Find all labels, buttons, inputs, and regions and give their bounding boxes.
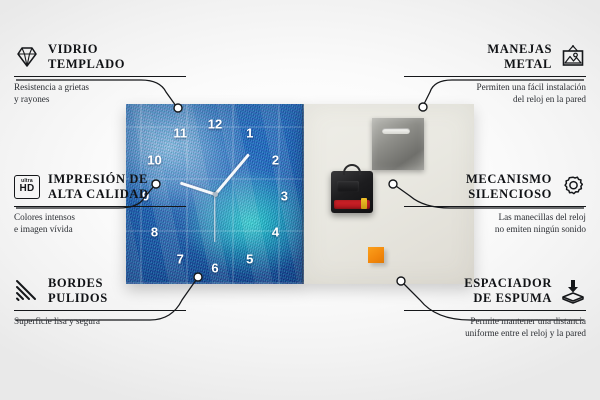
feature-header: ESPACIADOR DE ESPUMA [404, 276, 586, 306]
feature-title: VIDRIO TEMPLADO [48, 42, 125, 72]
feature-bordes-pulidos: BORDES PULIDOS Superficie lisa y segura [14, 276, 186, 327]
hanger-slot [382, 128, 410, 134]
clock-numeral-4: 4 [272, 225, 279, 238]
feature-rule [14, 76, 186, 77]
silent-clock-mechanism [331, 171, 373, 213]
clock-center-pin [213, 192, 218, 197]
clock-numeral-5: 5 [246, 252, 253, 265]
feature-subtitle: Colores intensos e imagen vívida [14, 211, 186, 235]
battery-compartment [334, 200, 370, 209]
feature-rule [14, 206, 186, 207]
clock-numeral-1: 1 [246, 126, 253, 139]
feature-header: VIDRIO TEMPLADO [14, 42, 186, 72]
clock-numeral-11: 11 [173, 126, 187, 139]
feature-title: ESPACIADOR DE ESPUMA [464, 276, 552, 306]
diamond-icon [14, 44, 40, 70]
feature-header: BORDES PULIDOS [14, 276, 186, 306]
feature-subtitle: Permiten una fácil instalación del reloj… [404, 81, 586, 105]
clock-numeral-3: 3 [281, 189, 288, 202]
foam-spacer [368, 247, 384, 263]
feature-subtitle: Permite mantener una distancia uniforme … [404, 315, 586, 339]
clock-numeral-7: 7 [177, 252, 184, 265]
feature-rule [14, 310, 186, 311]
feature-title: MECANISMO SILENCIOSO [466, 172, 552, 202]
feature-espaciador-espuma: ESPACIADOR DE ESPUMA Permite mantener un… [404, 276, 586, 339]
clock-numeral-2: 2 [272, 153, 279, 166]
feature-subtitle: Superficie lisa y segura [14, 315, 186, 327]
feature-rule [404, 310, 586, 311]
feature-impresion-alta-calidad: ultra HD IMPRESIÓN DE ALTA CALIDAD Color… [14, 172, 186, 235]
clock-numeral-12: 12 [208, 117, 222, 130]
clock-numeral-10: 10 [147, 153, 161, 166]
feature-subtitle: Las manecillas del reloj no emiten ningú… [404, 211, 586, 235]
minute-hand [214, 153, 249, 195]
gear-icon [560, 174, 586, 200]
feature-manejas-metal: MANEJAS METAL Permiten una fácil instala… [404, 42, 586, 105]
feature-mecanismo-silencioso: MECANISMO SILENCIOSO Las manecillas del … [404, 172, 586, 235]
infographic-canvas: 12 1 2 3 4 5 6 7 8 9 10 11 [0, 0, 600, 400]
ultra-hd-icon-main-label: HD [19, 184, 34, 194]
feature-header: MANEJAS METAL [404, 42, 586, 72]
clock-numeral-6: 6 [211, 261, 218, 274]
picture-hanger-icon [560, 44, 586, 70]
feature-header: MECANISMO SILENCIOSO [404, 172, 586, 202]
feature-rule [404, 206, 586, 207]
mechanism-hanger-loop [343, 164, 361, 175]
foam-spacer-arrow-icon [560, 278, 586, 304]
second-hand [214, 194, 215, 242]
feature-header: ultra HD IMPRESIÓN DE ALTA CALIDAD [14, 172, 186, 202]
feature-subtitle: Resistencia a grietas y rayones [14, 81, 186, 105]
feature-title: BORDES PULIDOS [48, 276, 108, 306]
mechanism-housing-detail [337, 181, 359, 192]
metal-hanger-plate [372, 118, 424, 170]
feature-rule [404, 76, 586, 77]
feature-vidrio-templado: VIDRIO TEMPLADO Resistencia a grietas y … [14, 42, 186, 105]
ultra-hd-icon: ultra HD [14, 175, 40, 199]
feature-title: MANEJAS METAL [487, 42, 552, 72]
polished-edges-icon [14, 278, 40, 304]
feature-title: IMPRESIÓN DE ALTA CALIDAD [48, 172, 149, 202]
